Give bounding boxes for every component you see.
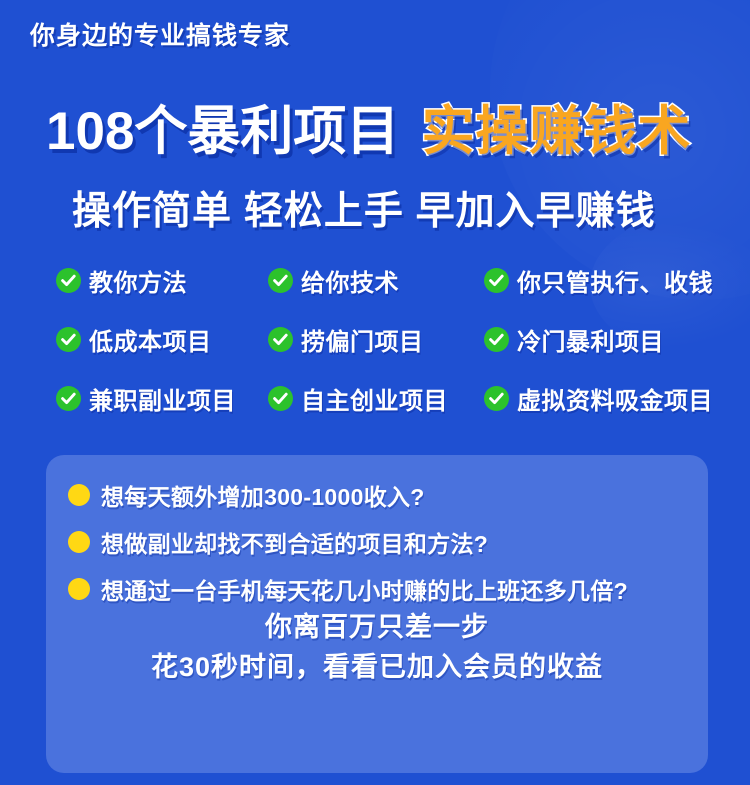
question-label: 想每天额外增加300-1000收入? bbox=[101, 478, 425, 512]
check-circle-icon bbox=[484, 327, 509, 352]
feature-item: 虚拟资料吸金项目 bbox=[484, 376, 713, 420]
promo-page: 你身边的专业搞钱专家 108个暴利项目 实操赚钱术 操作简单 轻松上手 早加入早… bbox=[0, 0, 750, 785]
headline-main-text: 108个暴利项目 bbox=[46, 89, 399, 165]
feature-label: 给你技术 bbox=[301, 263, 399, 298]
feature-row: 兼职副业项目 自主创业项目 虚拟资料吸金项目 bbox=[56, 376, 716, 435]
subheadline: 操作简单 轻松上手 早加入早赚钱 bbox=[72, 180, 656, 236]
feature-label: 自主创业项目 bbox=[301, 381, 448, 416]
question-label: 想通过一台手机每天花几小时赚的比上班还多几倍? bbox=[101, 572, 628, 606]
feature-item: 教你方法 bbox=[56, 258, 187, 302]
check-circle-icon bbox=[268, 327, 293, 352]
feature-item: 给你技术 bbox=[268, 258, 399, 302]
question-item: 想通过一台手机每天花几小时赚的比上班还多几倍? bbox=[68, 567, 690, 611]
feature-label: 低成本项目 bbox=[89, 322, 212, 357]
feature-row: 教你方法 给你技术 你只管执行、收钱 bbox=[56, 258, 716, 317]
feature-item: 自主创业项目 bbox=[268, 376, 448, 420]
feature-label: 你只管执行、收钱 bbox=[517, 263, 713, 298]
feature-item: 低成本项目 bbox=[56, 317, 212, 361]
feature-label: 教你方法 bbox=[89, 263, 187, 298]
closing-line: 花30秒时间，看看已加入会员的收益 bbox=[46, 647, 708, 687]
closing-message: 你离百万只差一步 花30秒时间，看看已加入会员的收益 bbox=[46, 607, 708, 687]
feature-grid: 教你方法 给你技术 你只管执行、收钱 低成本项目 bbox=[56, 258, 716, 435]
feature-label: 冷门暴利项目 bbox=[517, 322, 664, 357]
closing-line: 你离百万只差一步 bbox=[46, 607, 708, 647]
check-circle-icon bbox=[484, 386, 509, 411]
question-item: 想做副业却找不到合适的项目和方法? bbox=[68, 520, 690, 564]
feature-label: 虚拟资料吸金项目 bbox=[517, 381, 713, 416]
question-item: 想每天额外增加300-1000收入? bbox=[68, 473, 690, 517]
feature-item: 捞偏门项目 bbox=[268, 317, 424, 361]
feature-row: 低成本项目 捞偏门项目 冷门暴利项目 bbox=[56, 317, 716, 376]
feature-item: 冷门暴利项目 bbox=[484, 317, 664, 361]
headline-accent-text: 实操赚钱术 bbox=[421, 89, 691, 165]
dot-icon bbox=[68, 578, 90, 600]
check-circle-icon bbox=[56, 386, 81, 411]
check-circle-icon bbox=[268, 386, 293, 411]
feature-label: 兼职副业项目 bbox=[89, 381, 236, 416]
feature-item: 你只管执行、收钱 bbox=[484, 258, 713, 302]
check-circle-icon bbox=[484, 268, 509, 293]
question-label: 想做副业却找不到合适的项目和方法? bbox=[101, 525, 488, 559]
headline: 108个暴利项目 实操赚钱术 bbox=[46, 89, 691, 165]
check-circle-icon bbox=[56, 268, 81, 293]
dot-icon bbox=[68, 531, 90, 553]
question-list: 想每天额外增加300-1000收入? 想做副业却找不到合适的项目和方法? 想通过… bbox=[68, 473, 690, 614]
feature-item: 兼职副业项目 bbox=[56, 376, 236, 420]
check-circle-icon bbox=[268, 268, 293, 293]
feature-label: 捞偏门项目 bbox=[301, 322, 424, 357]
dot-icon bbox=[68, 484, 90, 506]
check-circle-icon bbox=[56, 327, 81, 352]
tagline: 你身边的专业搞钱专家 bbox=[30, 16, 290, 52]
cta-card: 想每天额外增加300-1000收入? 想做副业却找不到合适的项目和方法? 想通过… bbox=[46, 455, 708, 773]
